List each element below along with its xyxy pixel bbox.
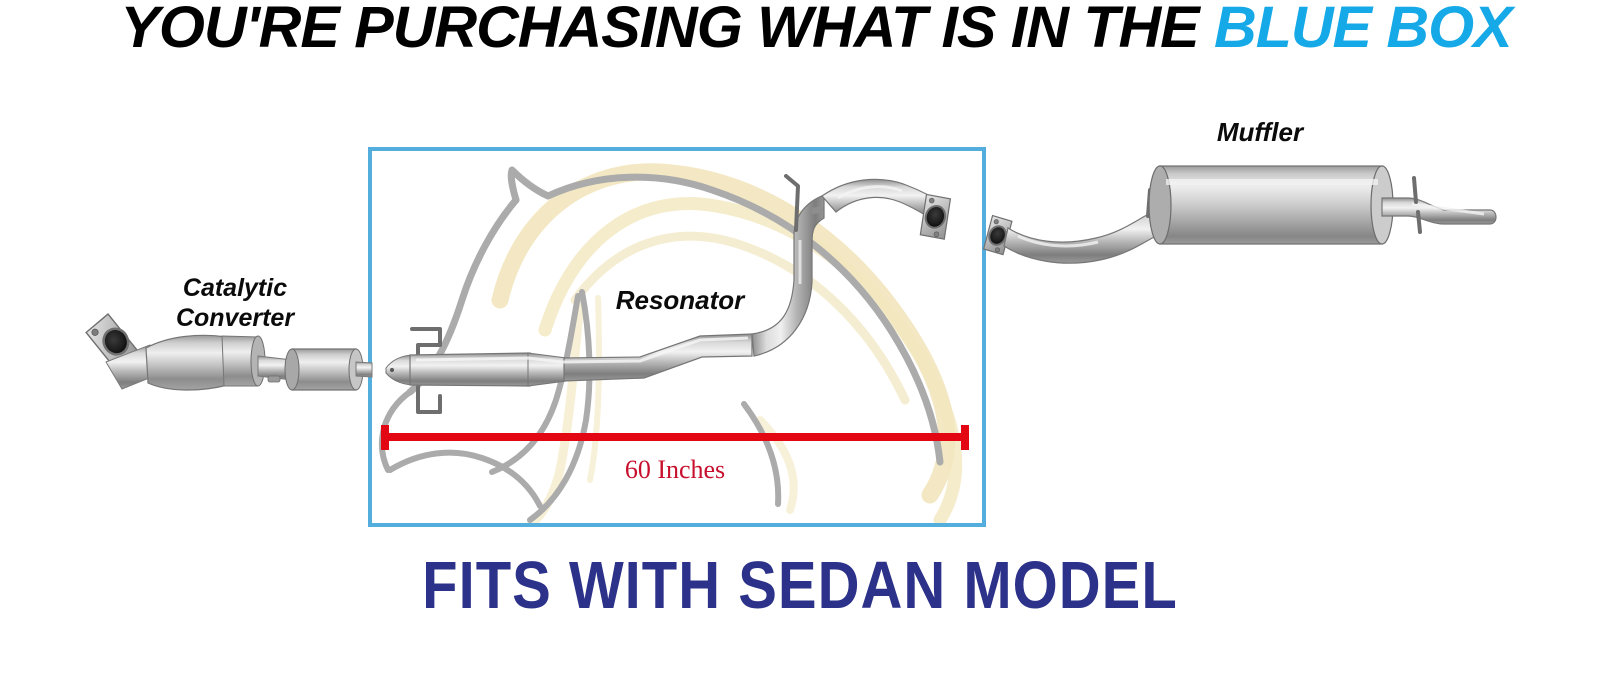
measurement-length-text: 60 Inches xyxy=(560,455,790,485)
headline-black-text: YOU'RE PURCHASING WHAT IS IN THE xyxy=(120,0,1214,60)
fits-model-banner: FITS WITH SEDAN MODEL xyxy=(0,548,1600,624)
label-muffler: Muffler xyxy=(1150,117,1370,147)
headline-blue-text: BLUE BOX xyxy=(1214,0,1512,60)
label-resonator: Resonator xyxy=(585,285,775,315)
exhaust-system-listing-image: YOU'RE PURCHASING WHAT IS IN THE BLUE BO… xyxy=(0,0,1600,685)
muffler-part xyxy=(978,166,1496,263)
page-title: YOU'RE PURCHASING WHAT IS IN THE BLUE BO… xyxy=(0,0,1600,58)
label-catalytic-converter: Catalytic Converter xyxy=(120,273,350,333)
